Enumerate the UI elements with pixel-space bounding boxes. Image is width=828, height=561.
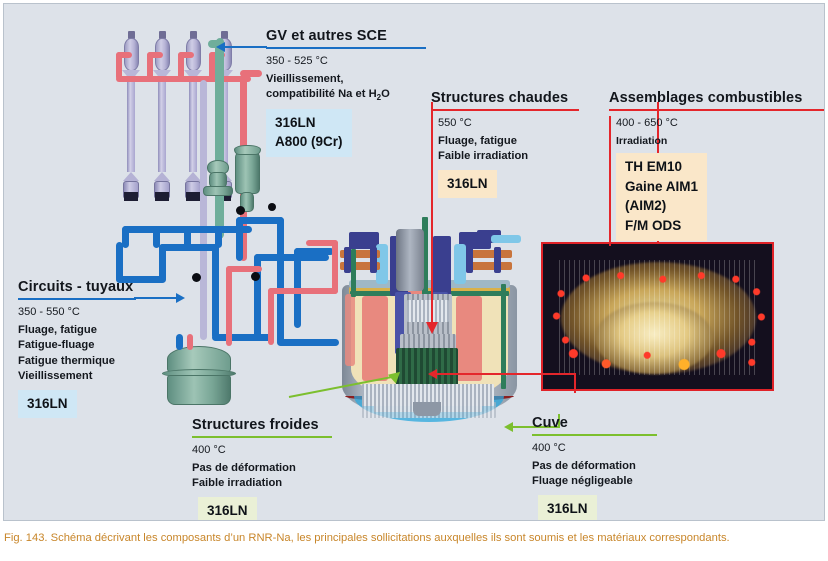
leader-line-gv [224, 46, 267, 48]
callout-stress-line: Fluage, fatigue [18, 323, 136, 338]
figure-page: GV et autres SCE 350 - 525 °C Vieillisse… [0, 0, 828, 561]
callout-stress-line: Fluage négligeable [532, 474, 657, 489]
material-box: 316LN [438, 170, 497, 199]
callout-temperature: 350 - 550 °C [18, 305, 136, 320]
material-box: 316LN A800 (9Cr) [266, 109, 352, 157]
callout-stress-line: Irradiation [616, 134, 824, 148]
arrowhead-cuve [504, 422, 513, 432]
callout-temperature: 400 °C [532, 441, 657, 456]
material-box: TH EM10 Gaine AIM1 (AIM2) F/M ODS [616, 153, 707, 240]
fuel-assembly-photo [541, 242, 774, 391]
callout-rule [431, 109, 579, 111]
callout-rule [266, 47, 426, 49]
callout-stress-line: Vieillissement, [266, 72, 426, 87]
callout-stress-line: compatibilité Na et H2O [266, 87, 426, 103]
material-value: 316LN [447, 174, 488, 194]
material-value: 316LN [275, 113, 343, 133]
arrowhead-structures-chaudes [426, 322, 438, 334]
callout-stress-line: Pas de déformation [192, 461, 332, 476]
material-value: 316LN [207, 501, 248, 521]
leader-line-assemblages-photo-edge [574, 373, 576, 393]
callout-title: Cuve [532, 415, 657, 434]
callout-stress-line: Faible irradiation [438, 149, 579, 164]
callout-rule [192, 436, 332, 438]
leader-line-circuits [134, 297, 178, 299]
callout-stress-line: Faible irradiation [192, 476, 332, 491]
callout-title: Assemblages combustibles [609, 90, 824, 109]
callout-temperature: 400 - 650 °C [616, 116, 824, 131]
arrowhead-gv [216, 42, 225, 52]
callout-structures-froides: Structures froides 400 °C Pas de déforma… [192, 417, 332, 521]
callout-rule [18, 298, 136, 300]
callout-rule [609, 109, 824, 111]
material-value: 316LN [27, 394, 68, 414]
callout-stress-line: Fatigue-fluage [18, 338, 136, 353]
arrowhead-circuits [176, 293, 185, 303]
callout-temperature: 550 °C [438, 116, 579, 131]
arrowhead-assemblages-core [428, 369, 437, 379]
callout-stress-line: Fatigue thermique [18, 354, 136, 369]
callout-title: Structures chaudes [431, 90, 579, 109]
callout-rule [532, 434, 657, 436]
material-value: F/M ODS [625, 216, 698, 236]
callout-title: Structures froides [192, 417, 332, 436]
material-value: 316LN [547, 499, 588, 519]
callout-stress-line: Vieillissement [18, 369, 136, 384]
callout-stress-line: Pas de déformation [532, 459, 657, 474]
diagram-canvas: GV et autres SCE 350 - 525 °C Vieillisse… [3, 3, 825, 521]
callout-cuve: Cuve 400 °C Pas de déformation Fluage né… [532, 415, 657, 521]
material-box: 316LN [198, 497, 257, 521]
material-box: 316LN [18, 390, 77, 419]
callout-title: Circuits - tuyaux [18, 279, 136, 298]
callout-structures-chaudes: Structures chaudes 550 °C Fluage, fatigu… [431, 90, 579, 198]
callout-temperature: 350 - 525 °C [266, 54, 426, 69]
material-box: 316LN [538, 495, 597, 521]
material-value: TH EM10 [625, 157, 698, 177]
callout-circuits-tuyaux: Circuits - tuyaux 350 - 550 °C Fluage, f… [18, 279, 136, 418]
callout-stress-line: Fluage, fatigue [438, 134, 579, 149]
leader-line-assemblages-to-core [436, 373, 576, 375]
callout-title: GV et autres SCE [266, 28, 426, 47]
material-value: (AIM2) [625, 196, 698, 216]
material-value: A800 (9Cr) [275, 132, 343, 152]
material-value: Gaine AIM1 [625, 177, 698, 197]
callout-assemblages-combustibles: Assemblages combustibles 400 - 650 °C Ir… [609, 90, 824, 241]
callout-gv-et-autres-sce: GV et autres SCE 350 - 525 °C Vieillisse… [266, 28, 426, 157]
callout-temperature: 400 °C [192, 443, 332, 458]
figure-caption: Fig. 143. Schéma décrivant les composant… [4, 532, 824, 545]
